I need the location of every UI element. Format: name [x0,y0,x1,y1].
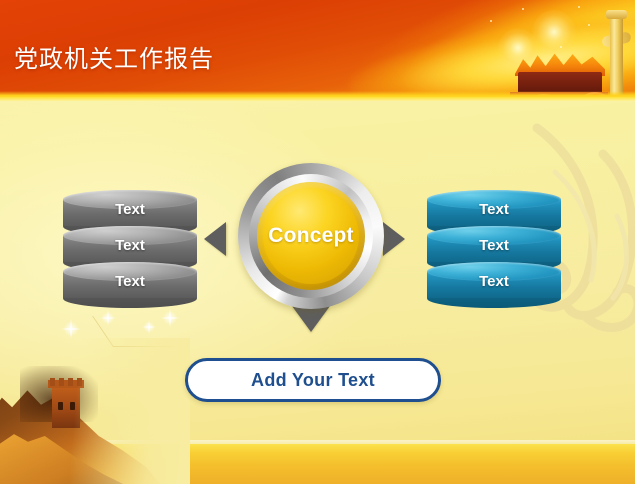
add-your-text-button[interactable]: Add Your Text [185,358,441,402]
cylinder-label: Text [427,273,561,290]
arrow-left-icon [204,222,226,256]
firework-icon [532,10,576,54]
banner-yellow-stripe-inner [0,97,635,101]
concept-label: Concept [238,163,384,309]
cylinder-item[interactable]: Text [427,262,561,304]
arrow-right-icon [383,222,405,256]
cylinder-label: Text [427,237,561,254]
title-banner: 党政机关工作报告 [0,0,635,101]
cylinder-label: Text [63,237,197,254]
right-cylinder-stack: Text Text Text [427,190,561,298]
concept-circle[interactable]: Concept [238,163,384,309]
cylinder-label: Text [427,201,561,218]
cylinder-item[interactable]: Text [63,262,197,304]
tiananmen-fireworks-artwork [460,0,635,101]
great-wall-artwork [0,338,190,484]
left-cylinder-stack: Text Text Text [63,190,197,298]
arrow-down-icon [292,306,330,332]
huabiao-cap [606,10,627,19]
page-title: 党政机关工作报告 [14,45,214,75]
presentation-slide: 党政机关工作报告 Text Text Text [0,0,635,484]
cylinder-label: Text [63,273,197,290]
cylinder-label: Text [63,201,197,218]
huabiao-column-icon [610,16,623,101]
add-your-text-label: Add Your Text [251,370,375,391]
